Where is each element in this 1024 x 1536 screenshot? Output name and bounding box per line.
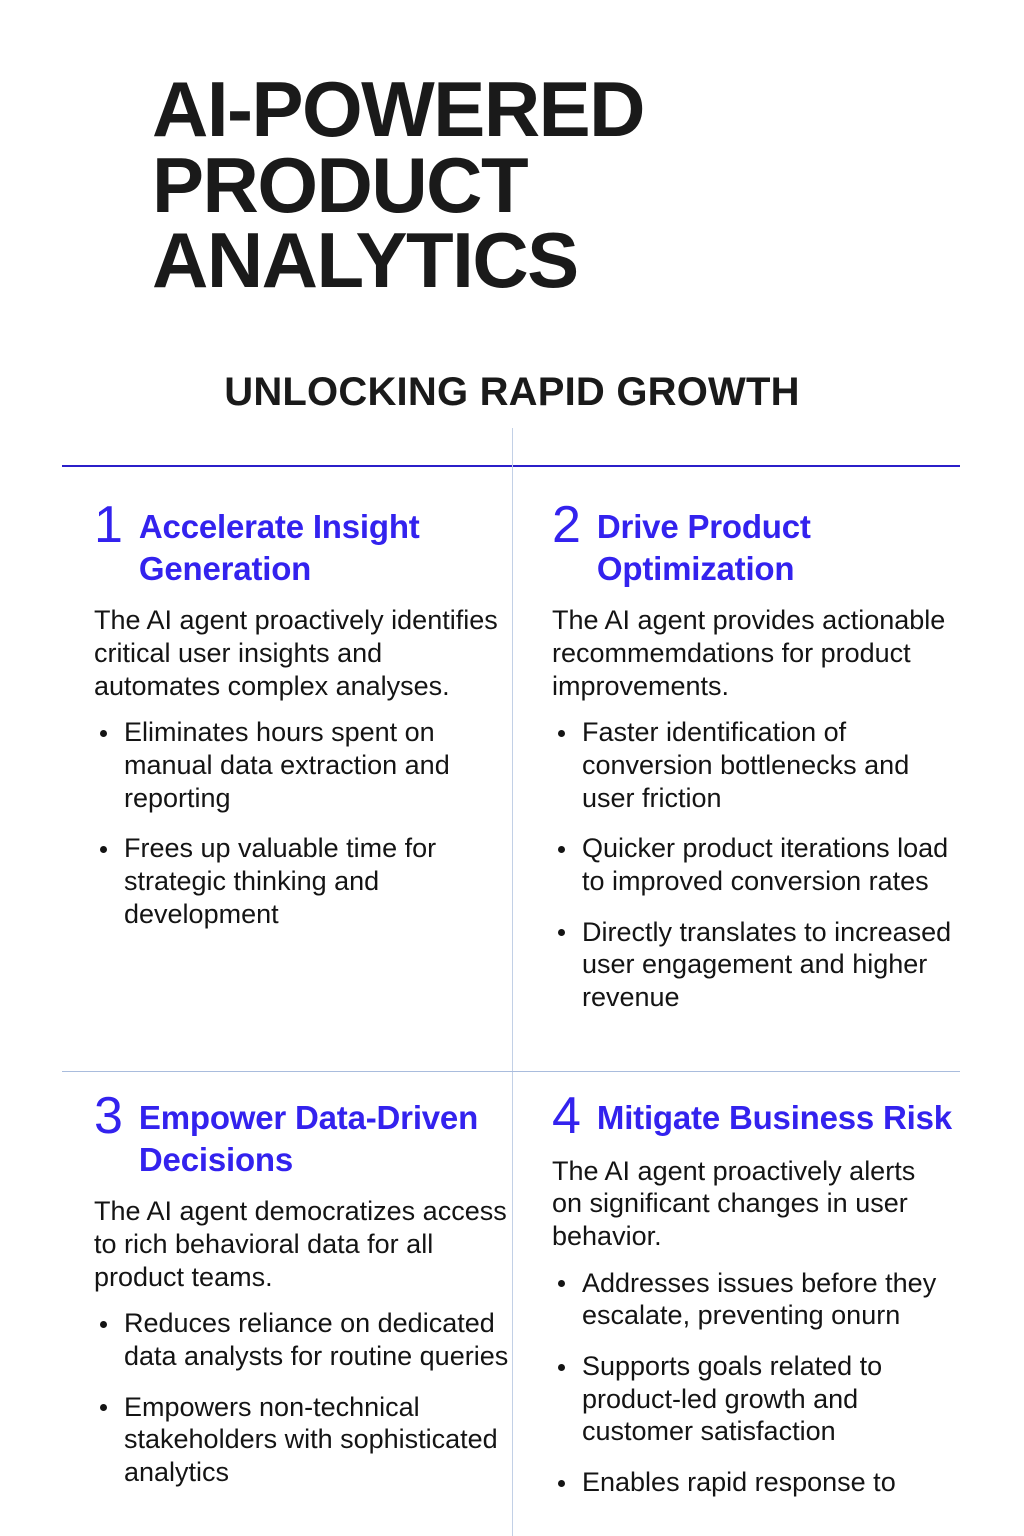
section-bullets-1: Eliminates hours spent on manual data ex… (94, 716, 514, 930)
bullet-text: Reduces reliance on dedicated data analy… (124, 1308, 508, 1371)
bullet-dot-icon (100, 730, 107, 737)
bullet-text: Enables rapid response to (582, 1467, 896, 1497)
list-item: Faster identification of conversion bott… (552, 716, 952, 814)
section-number-2: 2 (552, 502, 581, 550)
list-item: Empowers non-technical stakeholders with… (94, 1391, 514, 1489)
section-bullets-4: Addresses issues before they escalate, p… (552, 1267, 952, 1499)
bullet-text: Directly translates to increased user en… (582, 917, 951, 1012)
bullet-dot-icon (100, 846, 107, 853)
list-item: Eliminates hours spent on manual data ex… (94, 716, 514, 814)
list-item: Reduces reliance on dedicated data analy… (94, 1307, 514, 1372)
bullet-text: Eliminates hours spent on manual data ex… (124, 717, 450, 812)
section-body-2: The AI agent provides actionable recomme… (552, 604, 952, 702)
section-card-4: 4 Mitigate Business Risk The AI agent pr… (552, 1097, 952, 1517)
section-body-1: The AI agent proactively identifies crit… (94, 604, 514, 702)
bullet-text: Addresses issues before they escalate, p… (582, 1268, 936, 1331)
list-item: Addresses issues before they escalate, p… (552, 1267, 952, 1332)
section-card-1: 1 Accelerate Insight Generation The AI a… (94, 506, 514, 948)
section-header-1: 1 Accelerate Insight Generation (94, 506, 514, 590)
list-item: Supports goals related to product-led gr… (552, 1350, 952, 1448)
section-bullets-2: Faster identification of conversion bott… (552, 716, 952, 1013)
bullet-text: Frees up valuable time for strategic thi… (124, 833, 436, 928)
bullet-text: Faster identification of conversion bott… (582, 717, 909, 812)
section-title-1: Accelerate Insight Generation (139, 506, 514, 590)
bullet-dot-icon (100, 1404, 107, 1411)
bullet-text: Quicker product iterations load to impro… (582, 833, 948, 896)
list-item: Frees up valuable time for strategic thi… (94, 832, 514, 930)
bullet-dot-icon (558, 1364, 565, 1371)
section-title-4: Mitigate Business Risk (597, 1097, 952, 1139)
section-header-4: 4 Mitigate Business Risk (552, 1097, 952, 1141)
section-number-1: 1 (94, 502, 123, 550)
section-body-4: The AI agent proactively alerts on signi… (552, 1155, 952, 1253)
bullet-text: Supports goals related to product-led gr… (582, 1351, 882, 1446)
bullet-dot-icon (558, 1280, 565, 1287)
bullet-text: Empowers non-technical stakeholders with… (124, 1392, 498, 1487)
list-item: Enables rapid response to (552, 1466, 952, 1499)
section-card-2: 2 Drive Product Optimization The AI agen… (552, 506, 952, 1032)
bullet-dot-icon (558, 846, 565, 853)
list-item: Directly translates to increased user en… (552, 916, 952, 1014)
bullet-dot-icon (558, 929, 565, 936)
bullet-dot-icon (100, 1321, 107, 1328)
section-title-2: Drive Product Optimization (597, 506, 952, 590)
section-number-3: 3 (94, 1093, 123, 1141)
section-bullets-3: Reduces reliance on dedicated data analy… (94, 1307, 514, 1488)
section-header-2: 2 Drive Product Optimization (552, 506, 952, 590)
section-body-3: The AI agent democratizes access to rich… (94, 1195, 514, 1293)
list-item: Quicker product iterations load to impro… (552, 832, 952, 897)
section-number-4: 4 (552, 1093, 581, 1141)
bullet-dot-icon (558, 730, 565, 737)
section-header-3: 3 Empower Data-Driven Decisions (94, 1097, 514, 1181)
section-title-3: Empower Data-Driven Decisions (139, 1097, 514, 1181)
bullet-dot-icon (558, 1480, 565, 1487)
section-card-3: 3 Empower Data-Driven Decisions The AI a… (94, 1097, 514, 1507)
sections-grid: 1 Accelerate Insight Generation The AI a… (0, 0, 1024, 1536)
